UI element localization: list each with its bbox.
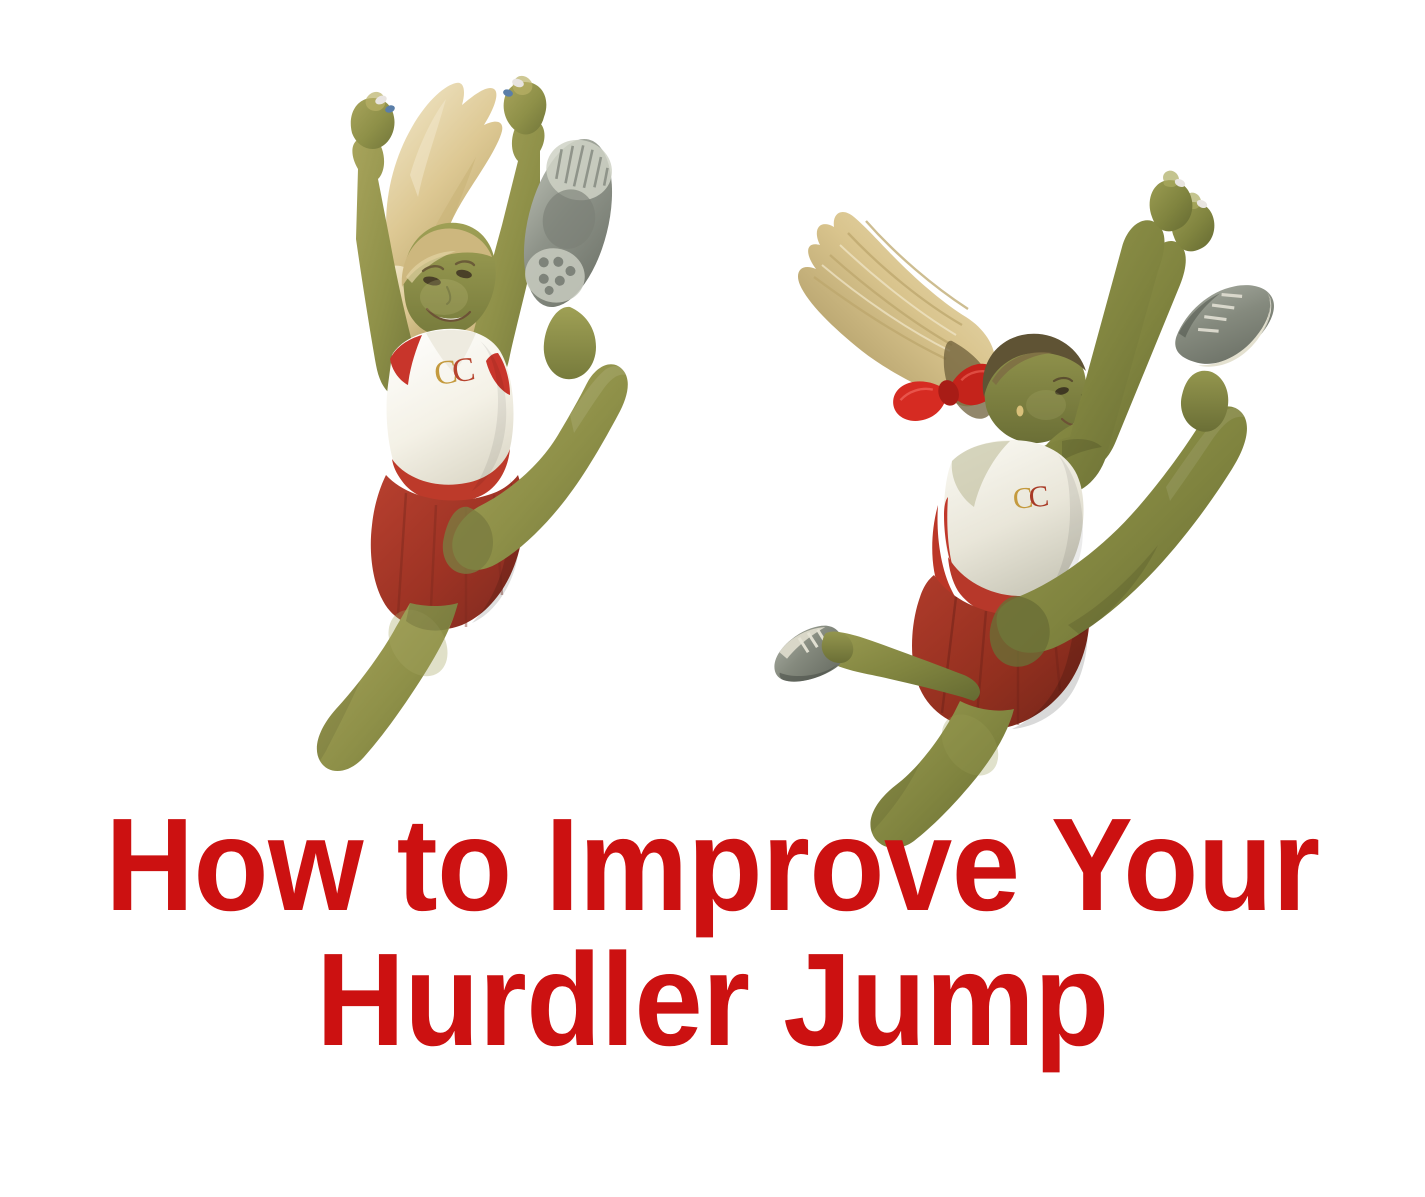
leg-bent-left-figure bbox=[317, 599, 460, 771]
poster-title: How to Improve Your Hurdler Jump bbox=[0, 800, 1425, 1065]
cheerleader-left-figure: C C bbox=[240, 55, 650, 765]
uniform-top-left: C C bbox=[387, 329, 514, 504]
poster-canvas: C C bbox=[0, 0, 1425, 1197]
cheerleader-right-figure: C C bbox=[770, 105, 1290, 775]
title-line-1: How to Improve Your bbox=[50, 800, 1375, 929]
title-line-2: Hurdler Jump bbox=[50, 935, 1375, 1064]
cheerleader-left-illustration: C C bbox=[240, 55, 650, 765]
cheerleader-right-illustration: C C bbox=[770, 105, 1290, 775]
